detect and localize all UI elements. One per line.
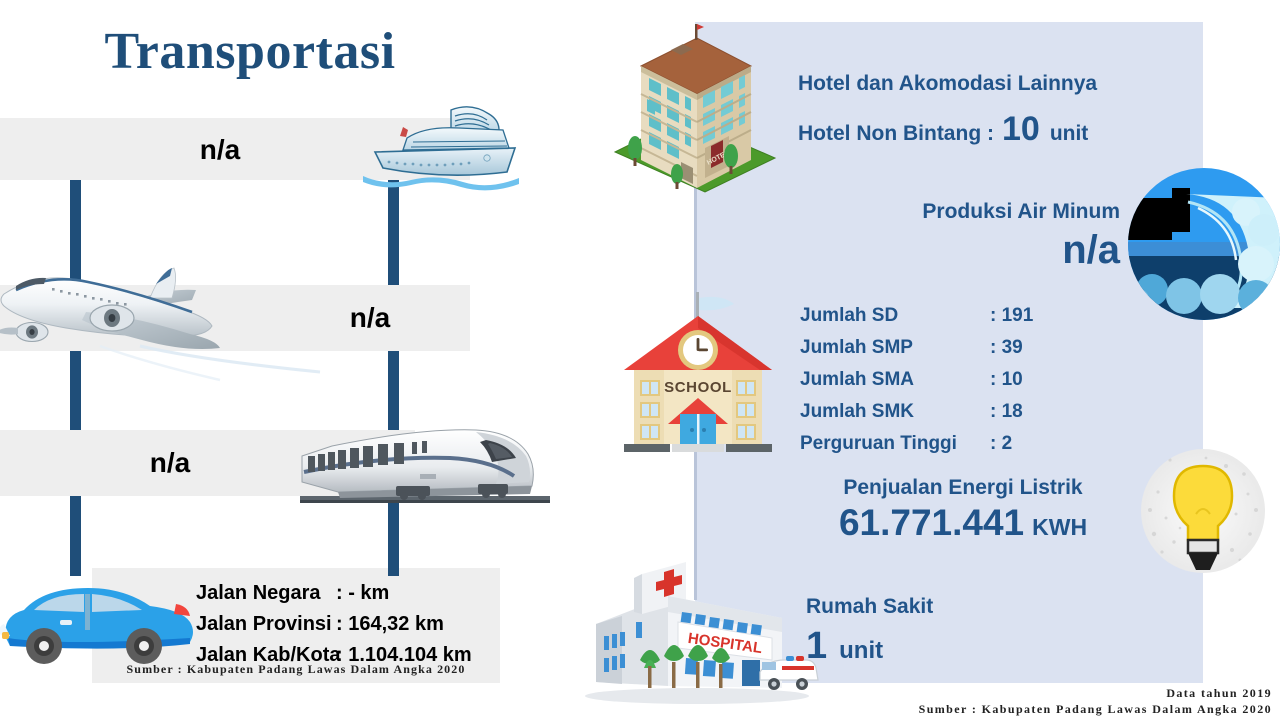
hotel-info-block: Hotel dan Akomodasi Lainnya Hotel Non Bi… [798,72,1178,149]
education-label: Jumlah SMK [800,396,990,428]
navy-divider-bar [388,180,399,285]
hospital-building-icon: HOSPITAL [582,556,812,706]
education-row: Jumlah SMA : 10 [800,364,1100,396]
hotel-heading: Hotel dan Akomodasi Lainnya [798,72,1178,96]
lightbulb-icon [1140,448,1266,574]
education-value: : 10 [990,364,1023,396]
navy-divider-bar [70,496,81,576]
hospital-unit: unit [839,637,883,665]
road-value: : - km [336,578,389,609]
road-label: Jalan Negara [196,578,336,609]
electricity-value: 61.771.441 [839,502,1024,544]
hotel-value: 10 [1002,110,1040,149]
education-label: Jumlah SMA [800,364,990,396]
education-row: Jumlah SMK : 18 [800,396,1100,428]
education-label: Jumlah SD [800,300,990,332]
education-row: Jumlah SD : 191 [800,300,1100,332]
ship-icon [355,96,525,188]
car-icon [0,576,200,672]
road-label: Jalan Provinsi [196,609,336,640]
hospital-value-row: 1 unit [806,625,1086,668]
hospital-heading: Rumah Sakit [806,595,1086,619]
water-heading: Produksi Air Minum [820,200,1120,224]
water-value: n/a [820,228,1120,273]
road-row: Jalan Negara : - km [196,578,516,609]
airplane-icon [0,250,330,380]
footer-data-year: Data tahun 2019 [880,686,1272,701]
footer-source-note: Sumber : Kabupaten Padang Lawas Dalam An… [830,702,1272,717]
road-row: Jalan Provinsi : 164,32 km [196,609,516,640]
education-stats-list: Jumlah SD : 191 Jumlah SMP : 39 Jumlah S… [800,300,1100,460]
ship-value: n/a [150,134,290,166]
svg-text:SCHOOL: SCHOOL [664,379,732,396]
education-row: Perguruan Tinggi : 2 [800,428,1100,460]
hotel-building-icon: HOTEL [605,20,785,190]
electricity-block: Penjualan Energi Listrik 61.771.441 KWH [798,476,1128,544]
education-value: : 39 [990,332,1023,364]
education-label: Perguruan Tinggi [800,428,990,460]
left-source-note: Sumber : Kabupaten Padang Lawas Dalam An… [96,662,496,677]
road-length-list: Jalan Negara : - km Jalan Provinsi : 164… [196,578,516,671]
electricity-heading: Penjualan Energi Listrik [798,476,1128,500]
hospital-value: 1 [806,625,827,668]
hospital-info-block: Rumah Sakit 1 unit [806,595,1086,668]
train-icon [300,412,550,512]
education-value: : 191 [990,300,1033,332]
hotel-unit: unit [1050,122,1088,146]
education-value: : 18 [990,396,1023,428]
transportation-panel: Transportasi n/a n/a n/a [0,0,580,720]
education-value: : 2 [990,428,1012,460]
hotel-label: Hotel Non Bintang : [798,122,994,146]
education-row: Jumlah SMP : 39 [800,332,1100,364]
electricity-value-row: 61.771.441 KWH [798,502,1128,544]
water-pipe-icon [1128,168,1280,320]
road-value: : 164,32 km [336,609,444,640]
hotel-value-row: Hotel Non Bintang : 10 unit [798,110,1178,149]
electricity-unit: KWH [1032,514,1087,541]
train-value: n/a [100,447,240,479]
page-title: Transportasi [0,22,500,81]
education-label: Jumlah SMP [800,332,990,364]
water-production-block: Produksi Air Minum n/a [820,200,1120,273]
school-building-icon: SCHOOL [612,292,784,462]
